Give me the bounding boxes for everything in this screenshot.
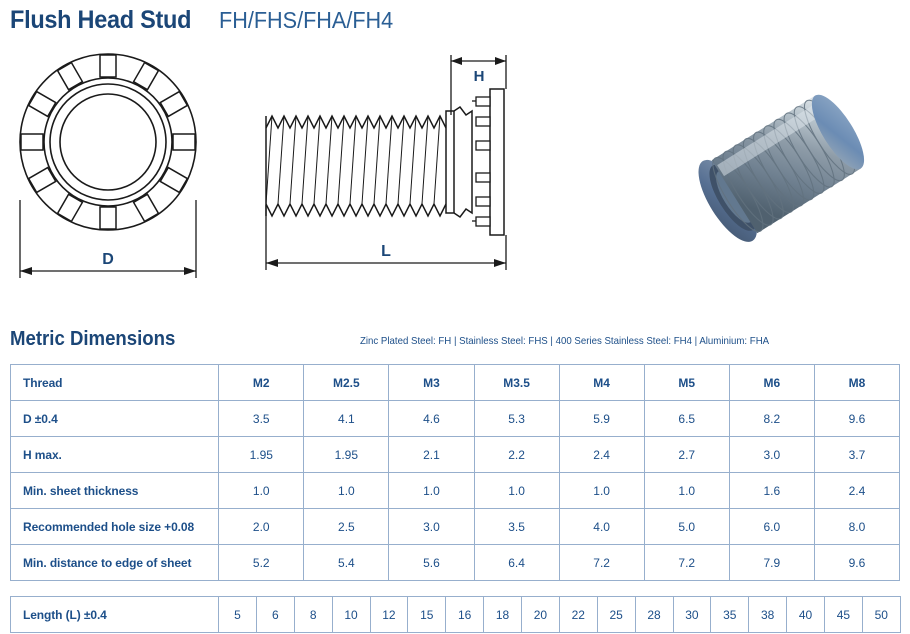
length-value-cell: 25 [597,597,635,633]
table-header-row: ThreadM2M2.5M3M3.5M4M5M6M8 [11,365,900,401]
d-dimension-label: D [102,251,114,268]
data-cell: 7.2 [559,545,644,581]
data-cell: 4.1 [304,401,389,437]
product-photo [660,55,905,290]
metric-dimensions-section-header: Metric Dimensions Zinc Plated Steel: FH … [10,328,900,356]
row-label: D ±0.4 [11,401,219,437]
header-thread-size: M3 [389,365,474,401]
data-cell: 3.0 [729,437,814,473]
data-cell: 1.6 [729,473,814,509]
data-cell: 5.2 [219,545,304,581]
data-cell: 1.0 [304,473,389,509]
header-thread-size: M2.5 [304,365,389,401]
bore-circle [60,94,156,190]
data-cell: 1.0 [219,473,304,509]
materials-legend: Zinc Plated Steel: FH | Stainless Steel:… [360,335,769,347]
table-row: Min. sheet thickness1.01.01.01.01.01.01.… [11,473,900,509]
data-cell: 6.5 [644,401,729,437]
data-cell: 5.4 [304,545,389,581]
data-cell: 2.5 [304,509,389,545]
l-dimension-line [266,205,506,270]
data-cell: 3.0 [389,509,474,545]
l-dimension-label: L [381,243,391,260]
length-value-cell: 15 [408,597,446,633]
length-value-cell: 45 [825,597,863,633]
head-knurl-teeth [472,97,490,226]
length-value-cell: 10 [332,597,370,633]
data-cell: 2.0 [219,509,304,545]
length-value-cell: 28 [635,597,673,633]
data-cell: 3.5 [474,509,559,545]
metric-dimensions-title: Metric Dimensions [10,328,175,351]
data-cell: 1.95 [219,437,304,473]
data-cell: 6.4 [474,545,559,581]
length-value-cell: 35 [711,597,749,633]
data-cell: 2.2 [474,437,559,473]
data-cell: 5.6 [389,545,474,581]
data-cell: 4.0 [559,509,644,545]
metric-dimensions-table: ThreadM2M2.5M3M3.5M4M5M6M8D ±0.43.54.14.… [10,364,900,581]
table-row: Min. distance to edge of sheet5.25.45.66… [11,545,900,581]
length-value-cell: 30 [673,597,711,633]
row-label: Min. distance to edge of sheet [11,545,219,581]
data-cell: 8.2 [729,401,814,437]
table-row: Recommended hole size +0.082.02.53.03.54… [11,509,900,545]
data-cell: 3.7 [814,437,899,473]
length-row-label: Length (L) ±0.4 [11,597,219,633]
length-value-cell: 50 [862,597,900,633]
row-label: Min. sheet thickness [11,473,219,509]
h-dimension-label: H [474,68,485,85]
length-value-cell: 16 [446,597,484,633]
data-cell: 9.6 [814,401,899,437]
data-cell: 4.6 [389,401,474,437]
length-row: Length (L) ±0.45681012151618202225283035… [11,597,901,633]
data-cell: 2.4 [814,473,899,509]
photo-body [688,84,876,250]
head-plate [490,89,504,235]
length-value-cell: 40 [787,597,825,633]
length-value-cell: 5 [219,597,257,633]
page-title: Flush Head Stud [10,6,191,35]
data-cell: 8.0 [814,509,899,545]
header-thread-size: M6 [729,365,814,401]
length-options-table: Length (L) ±0.45681012151618202225283035… [10,596,901,633]
header-thread-size: M5 [644,365,729,401]
data-cell: 5.3 [474,401,559,437]
data-cell: 3.5 [219,401,304,437]
data-cell: 1.0 [644,473,729,509]
data-cell: 6.0 [729,509,814,545]
thread-flanks [266,116,440,204]
data-cell: 1.0 [389,473,474,509]
data-cell: 9.6 [814,545,899,581]
data-cell: 5.0 [644,509,729,545]
length-value-cell: 18 [484,597,522,633]
data-cell: 7.2 [644,545,729,581]
header-thread-size: M3.5 [474,365,559,401]
head-undercut [446,107,472,217]
header-thread-size: M4 [559,365,644,401]
length-value-cell: 22 [559,597,597,633]
data-cell: 1.0 [559,473,644,509]
data-cell: 2.7 [644,437,729,473]
length-value-cell: 12 [370,597,408,633]
data-cell: 1.0 [474,473,559,509]
table-row: D ±0.43.54.14.65.35.96.58.29.6 [11,401,900,437]
table-row: H max.1.951.952.12.22.42.73.03.7 [11,437,900,473]
data-cell: 1.95 [304,437,389,473]
figure-group: D [0,45,910,295]
side-view-drawing: H L [248,45,513,290]
header-thread-size: M8 [814,365,899,401]
row-label: Recommended hole size +0.08 [11,509,219,545]
length-value-cell: 8 [294,597,332,633]
header-thread-size: M2 [219,365,304,401]
data-cell: 2.1 [389,437,474,473]
product-codes: FH/FHS/FHA/FH4 [219,7,393,34]
data-cell: 7.9 [729,545,814,581]
plan-view-drawing: D [5,45,220,295]
page-title-bar: Flush Head Stud FH/FHS/FHA/FH4 [10,6,404,35]
data-cell: 2.4 [559,437,644,473]
header-thread-label: Thread [11,365,219,401]
length-value-cell: 6 [256,597,294,633]
row-label: H max. [11,437,219,473]
length-value-cell: 38 [749,597,787,633]
length-value-cell: 20 [522,597,560,633]
data-cell: 5.9 [559,401,644,437]
